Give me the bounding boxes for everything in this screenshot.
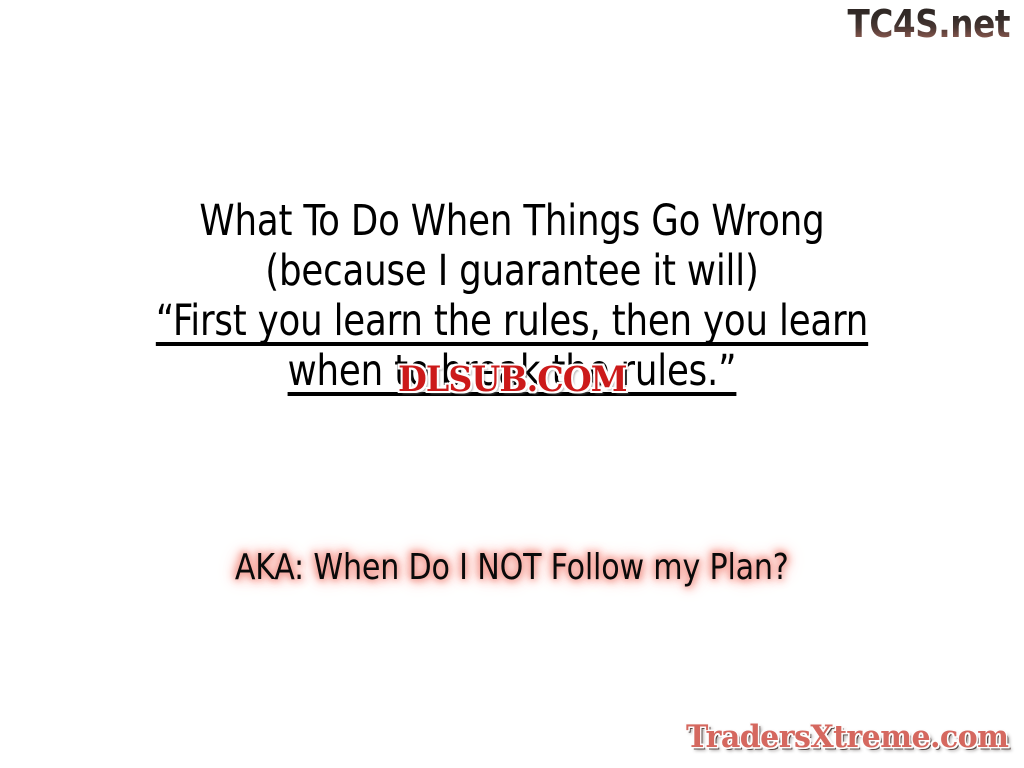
headline-block: What To Do When Things Go Wrong (because… — [0, 196, 1024, 396]
headline-quote-line-2: when to break the rules.” — [41, 346, 983, 396]
tradersxtreme-brand-logo: TradersXtreme.com — [686, 718, 1008, 756]
headline-quote-line-1: “First you learn the rules, then you lea… — [41, 296, 983, 346]
slide-canvas: TC4S.net What To Do When Things Go Wrong… — [0, 0, 1024, 768]
headline-line-2: (because I guarantee it will) — [41, 246, 983, 296]
aka-line: AKA: When Do I NOT Follow my Plan? — [0, 546, 1024, 590]
aka-text: AKA: When Do I NOT Follow my Plan? — [235, 546, 789, 590]
tc4s-brand-logo: TC4S.net — [847, 2, 1010, 46]
headline-line-1: What To Do When Things Go Wrong — [41, 196, 983, 246]
